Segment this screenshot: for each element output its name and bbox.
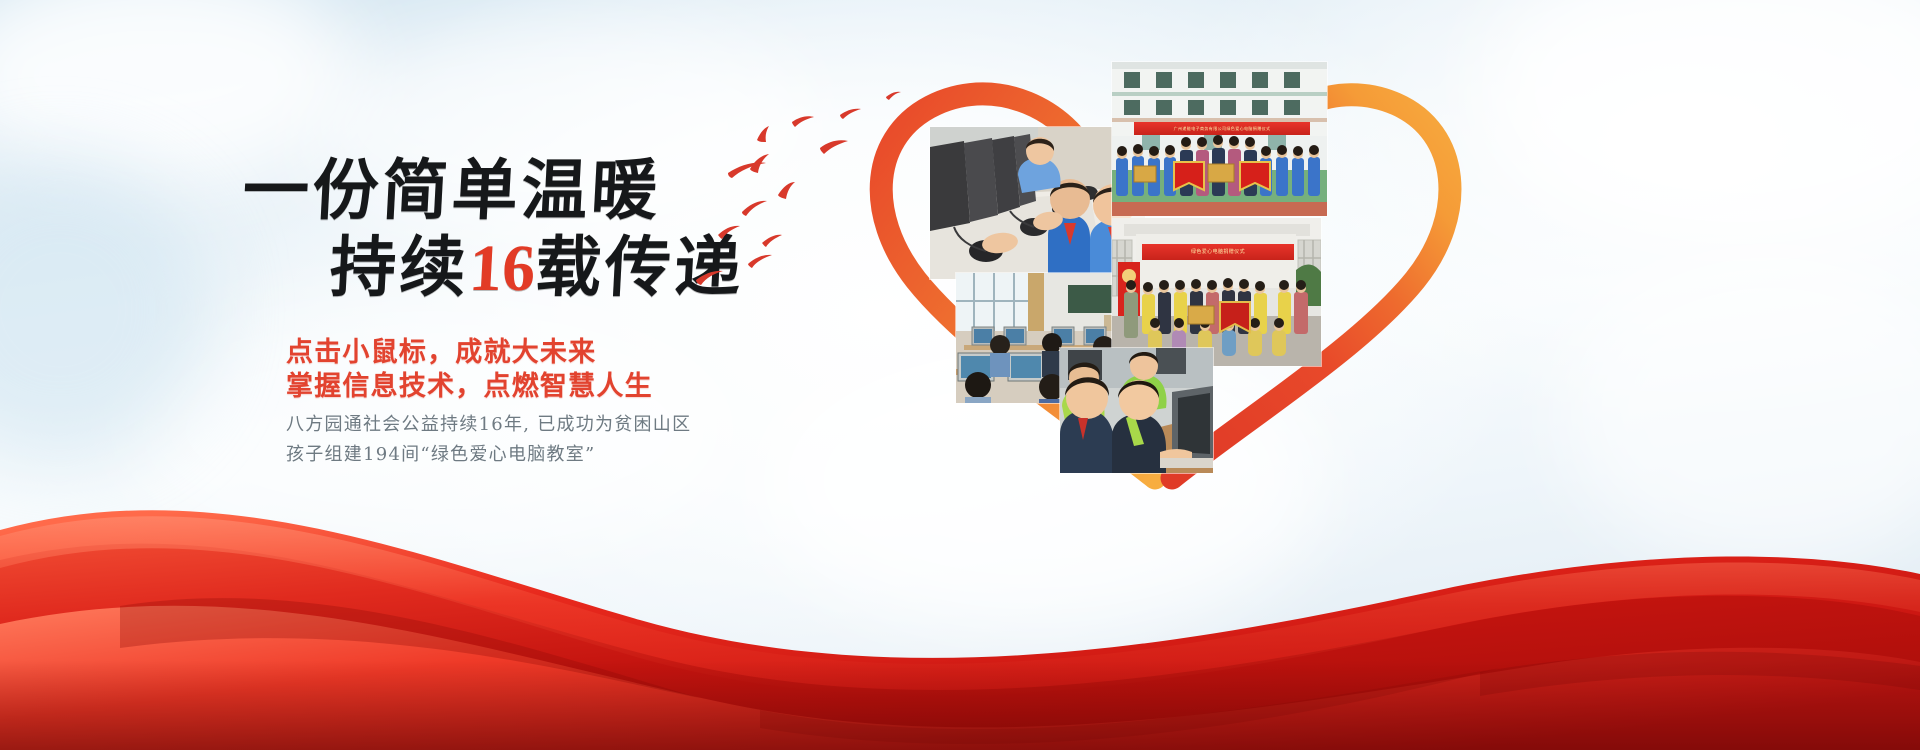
bird-icon (742, 201, 767, 216)
photo-donation-ceremony-blue: 广州递能电子商务有限公司绿色爱心电脑捐赠仪式 (1112, 62, 1327, 216)
bird-icon (792, 116, 814, 127)
headline-line-1: 一份简单温暖 (241, 155, 662, 225)
headline-line-2: 持续16载传递 (328, 232, 746, 304)
bird-icon (748, 255, 772, 268)
bird-icon (718, 226, 740, 239)
bird-icon (778, 182, 795, 199)
bird-icon (757, 126, 769, 142)
headline-line-2-prefix: 持续 (328, 228, 471, 306)
photo-donation-ceremony-yellow: 绿色爱心电脑捐赠仪式 (1112, 218, 1321, 366)
bird-icon (696, 271, 723, 285)
headline-years-number: 16 (467, 232, 537, 305)
bird-icon (762, 235, 782, 247)
photo-banner-text-blue: 广州递能电子商务有限公司绿色爱心电脑捐赠仪式 (1134, 122, 1310, 135)
photo-banner-text-yellow: 绿色爱心电脑捐赠仪式 (1142, 244, 1294, 260)
banner-root: 一份简单温暖 持续16载传递 点击小鼠标，成就大未来 掌握信息技术，点燃智慧人生… (0, 0, 1920, 750)
subtitle-line-2: 掌握信息技术，点燃智慧人生 (286, 364, 653, 403)
cloud-shape (1480, 0, 1920, 240)
red-silk-ribbon (0, 410, 1920, 750)
